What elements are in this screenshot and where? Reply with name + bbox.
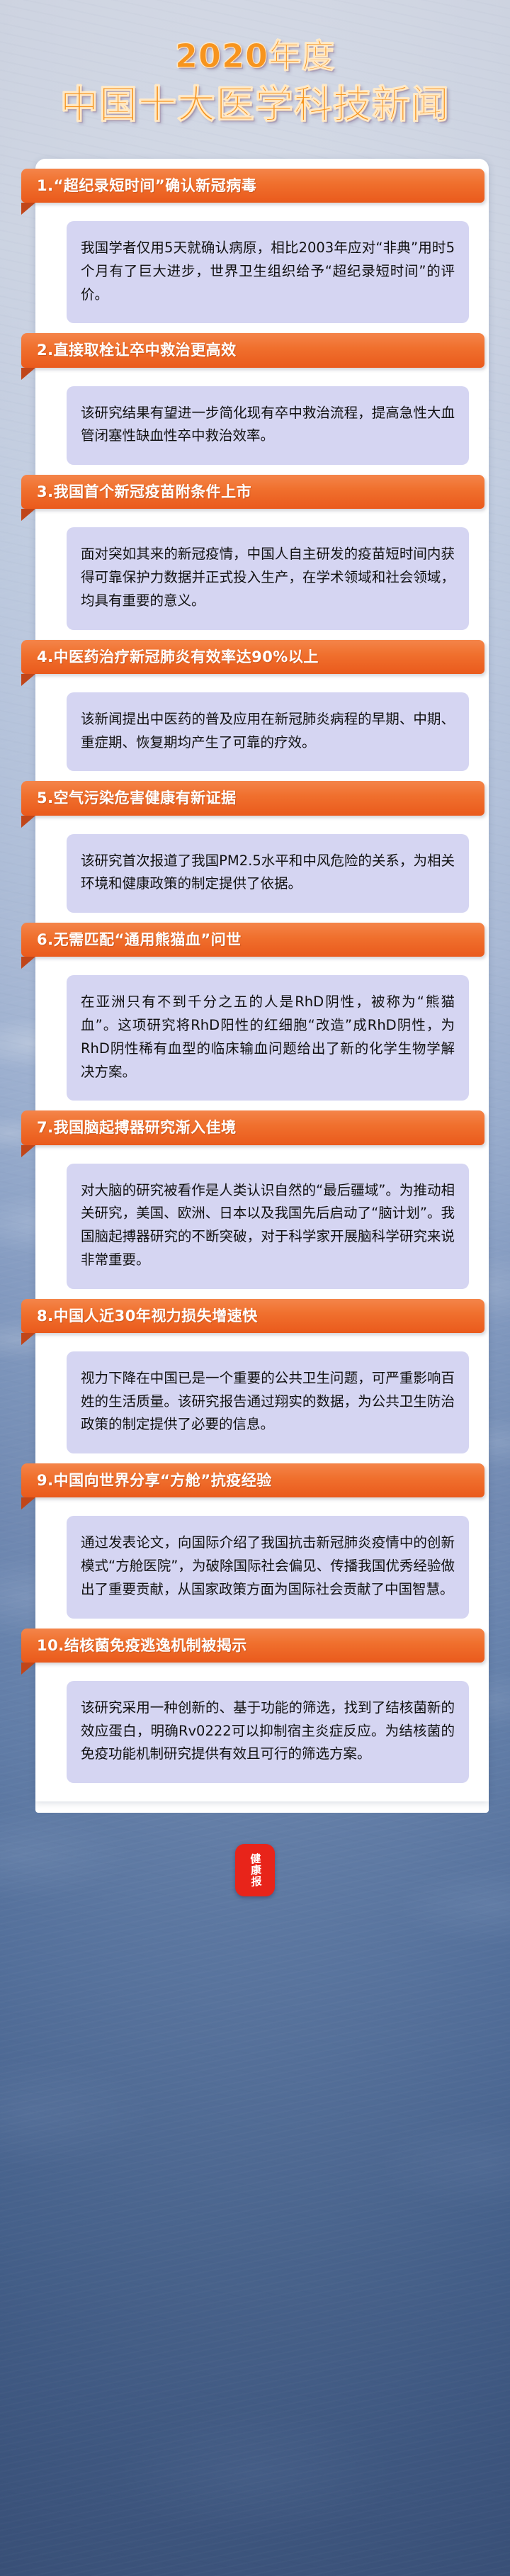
news-item: 6.无需匹配“通用熊猫血”问世在亚洲只有不到千分之五的人是RhD阴性，被称为“熊… <box>35 913 489 1101</box>
ribbon-fold-icon <box>21 509 35 521</box>
news-ribbon-wrap: 5.空气污染危害健康有新证据 <box>21 771 489 815</box>
publisher-logo-text: 健康报 <box>249 1852 261 1888</box>
news-item: 10.结核菌免疫逃逸机制被揭示该研究采用一种创新的、基于功能的筛选，找到了结核菌… <box>35 1619 489 1784</box>
news-body-text: 我国学者仅用5天就确认病原，相比2003年应对“非典”用时5个月有了巨大进步，世… <box>81 237 455 306</box>
news-body-box: 该研究首次报道了我国PM2.5水平和中风危险的关系，为相关环境和健康政策的制定提… <box>67 834 469 913</box>
news-ribbon-wrap: 4.中医药治疗新冠肺炎有效率达90%以上 <box>21 630 489 674</box>
news-ribbon-wrap: 9.中国向世界分享“方舱”抗疫经验 <box>21 1453 489 1497</box>
news-body-text: 对大脑的研究被看作是人类认识自然的“最后疆域”。为推动相关研究，美国、欧洲、日本… <box>81 1179 455 1272</box>
news-ribbon-wrap: 2.直接取栓让卒中救治更高效 <box>21 323 489 367</box>
news-body-box: 该新闻提出中医药的普及应用在新冠肺炎病程的早期、中期、重症期、恢复期均产生了可靠… <box>67 692 469 772</box>
news-ribbon-wrap: 6.无需匹配“通用熊猫血”问世 <box>21 913 489 957</box>
news-body-text: 通过发表论文，向国际介绍了我国抗击新冠肺炎疫情中的创新模式“方舱医院”，为破除国… <box>81 1531 455 1601</box>
news-ribbon[interactable]: 6.无需匹配“通用熊猫血”问世 <box>21 923 484 957</box>
news-ribbon-wrap: 1.“超纪录短时间”确认新冠病毒 <box>21 159 489 203</box>
news-ribbon[interactable]: 1.“超纪录短时间”确认新冠病毒 <box>21 169 484 203</box>
news-body-text: 该研究首次报道了我国PM2.5水平和中风危险的关系，为相关环境和健康政策的制定提… <box>81 850 455 896</box>
ribbon-fold-icon <box>21 816 35 828</box>
news-title: 3.我国首个新冠疫苗附条件上市 <box>37 483 251 500</box>
news-item: 2.直接取栓让卒中救治更高效该研究结果有望进一步简化现有卒中救治流程，提高急性大… <box>35 323 489 465</box>
news-title: 6.无需匹配“通用熊猫血”问世 <box>37 931 242 948</box>
news-body-text: 该研究采用一种创新的、基于功能的筛选，找到了结核菌新的效应蛋白，明确Rv0222… <box>81 1697 455 1766</box>
news-body-box: 在亚洲只有不到千分之五的人是RhD阴性，被称为“熊猫血”。这项研究将RhD阳性的… <box>67 975 469 1101</box>
news-title: 1.“超纪录短时间”确认新冠病毒 <box>37 177 256 194</box>
poster-content: 2020年度 中国十大医学科技新闻 1.“超纪录短时间”确认新冠病毒我国学者仅用… <box>0 0 510 1896</box>
news-item: 3.我国首个新冠疫苗附条件上市面对突如其来的新冠疫情，中国人自主研发的疫苗短时间… <box>35 465 489 630</box>
ribbon-fold-icon <box>21 1497 35 1509</box>
news-body-text: 该研究结果有望进一步简化现有卒中救治流程，提高急性大血管闭塞性缺血性卒中救治效率… <box>81 402 455 449</box>
news-title: 4.中医药治疗新冠肺炎有效率达90%以上 <box>37 648 319 665</box>
headline-line-2: 中国十大医学科技新闻 <box>0 82 510 128</box>
headline-line-1: 2020年度 <box>0 37 510 75</box>
ribbon-fold-icon <box>21 203 35 215</box>
news-ribbon[interactable]: 5.空气污染危害健康有新证据 <box>21 781 484 815</box>
news-item: 8.中国人近30年视力损失增速快视力下降在中国已是一个重要的公共卫生问题，可严重… <box>35 1289 489 1454</box>
news-body-box: 对大脑的研究被看作是人类认识自然的“最后疆域”。为推动相关研究，美国、欧洲、日本… <box>67 1164 469 1289</box>
news-ribbon-wrap: 10.结核菌免疫逃逸机制被揭示 <box>21 1619 489 1663</box>
news-ribbon-wrap: 3.我国首个新冠疫苗附条件上市 <box>21 465 489 509</box>
news-body-box: 该研究结果有望进一步简化现有卒中救治流程，提高急性大血管闭塞性缺血性卒中救治效率… <box>67 386 469 466</box>
news-ribbon[interactable]: 2.直接取栓让卒中救治更高效 <box>21 333 484 367</box>
news-body-box: 我国学者仅用5天就确认病原，相比2003年应对“非典”用时5个月有了巨大进步，世… <box>67 221 469 323</box>
news-body-text: 该新闻提出中医药的普及应用在新冠肺炎病程的早期、中期、重症期、恢复期均产生了可靠… <box>81 708 455 755</box>
news-body-box: 通过发表论文，向国际介绍了我国抗击新冠肺炎疫情中的创新模式“方舱医院”，为破除国… <box>67 1516 469 1618</box>
news-card-footer-edge <box>35 1801 489 1813</box>
poster-footer: 健康报 <box>0 1813 510 1896</box>
news-item: 5.空气污染危害健康有新证据该研究首次报道了我国PM2.5水平和中风危险的关系，… <box>35 771 489 913</box>
news-item: 4.中医药治疗新冠肺炎有效率达90%以上该新闻提出中医药的普及应用在新冠肺炎病程… <box>35 630 489 772</box>
ribbon-fold-icon <box>21 957 35 969</box>
news-item: 7.我国脑起搏器研究渐入佳境对大脑的研究被看作是人类认识自然的“最后疆域”。为推… <box>35 1101 489 1288</box>
news-title: 2.直接取栓让卒中救治更高效 <box>37 342 237 359</box>
news-body-text: 面对突如其来的新冠疫情，中国人自主研发的疫苗短时间内获得可靠保护力数据并正式投入… <box>81 543 455 612</box>
poster-root: 2020年度 中国十大医学科技新闻 1.“超纪录短时间”确认新冠病毒我国学者仅用… <box>0 0 510 2576</box>
news-title: 10.结核菌免疫逃逸机制被揭示 <box>37 1637 247 1654</box>
ribbon-fold-icon <box>21 1663 35 1675</box>
news-title: 5.空气污染危害健康有新证据 <box>37 789 237 806</box>
news-title: 7.我国脑起搏器研究渐入佳境 <box>37 1119 237 1136</box>
news-body-box: 该研究采用一种创新的、基于功能的筛选，找到了结核菌新的效应蛋白，明确Rv0222… <box>67 1681 469 1783</box>
news-body-box: 视力下降在中国已是一个重要的公共卫生问题，可严重影响百姓的生活质量。该研究报告通… <box>67 1351 469 1453</box>
publisher-logo: 健康报 <box>235 1844 275 1896</box>
news-card: 1.“超纪录短时间”确认新冠病毒我国学者仅用5天就确认病原，相比2003年应对“… <box>35 159 489 1801</box>
news-ribbon[interactable]: 10.结核菌免疫逃逸机制被揭示 <box>21 1629 484 1663</box>
ribbon-fold-icon <box>21 1333 35 1345</box>
poster-headline: 2020年度 中国十大医学科技新闻 <box>0 0 510 128</box>
news-ribbon[interactable]: 9.中国向世界分享“方舱”抗疫经验 <box>21 1463 484 1497</box>
news-ribbon-wrap: 8.中国人近30年视力损失增速快 <box>21 1289 489 1333</box>
news-body-text: 视力下降在中国已是一个重要的公共卫生问题，可严重影响百姓的生活质量。该研究报告通… <box>81 1367 455 1436</box>
ribbon-fold-icon <box>21 1145 35 1157</box>
news-ribbon[interactable]: 7.我国脑起搏器研究渐入佳境 <box>21 1110 484 1144</box>
news-body-text: 在亚洲只有不到千分之五的人是RhD阴性，被称为“熊猫血”。这项研究将RhD阳性的… <box>81 991 455 1084</box>
news-item: 1.“超纪录短时间”确认新冠病毒我国学者仅用5天就确认病原，相比2003年应对“… <box>35 159 489 324</box>
news-title: 9.中国向世界分享“方舱”抗疫经验 <box>37 1472 272 1489</box>
news-ribbon[interactable]: 8.中国人近30年视力损失增速快 <box>21 1299 484 1333</box>
news-body-box: 面对突如其来的新冠疫情，中国人自主研发的疫苗短时间内获得可靠保护力数据并正式投入… <box>67 527 469 629</box>
news-item: 9.中国向世界分享“方舱”抗疫经验通过发表论文，向国际介绍了我国抗击新冠肺炎疫情… <box>35 1453 489 1619</box>
news-ribbon[interactable]: 3.我国首个新冠疫苗附条件上市 <box>21 475 484 509</box>
news-ribbon-wrap: 7.我国脑起搏器研究渐入佳境 <box>21 1101 489 1144</box>
ribbon-fold-icon <box>21 368 35 380</box>
news-ribbon[interactable]: 4.中医药治疗新冠肺炎有效率达90%以上 <box>21 640 484 674</box>
ribbon-fold-icon <box>21 674 35 686</box>
news-title: 8.中国人近30年视力损失增速快 <box>37 1307 258 1324</box>
